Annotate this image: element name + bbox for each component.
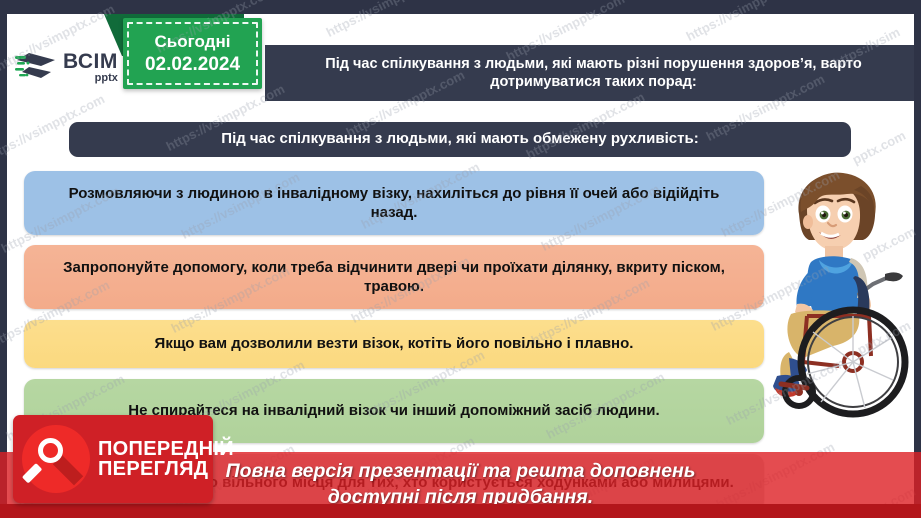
preview-badge-line1: ПОПЕРЕДНІЙ: [98, 439, 234, 459]
slide-title: Під час спілкування з людьми, які мають …: [265, 45, 914, 101]
vsimpptx-logo: ВСІМ pptx: [15, 44, 125, 90]
bottom-red-strip: [0, 504, 921, 518]
date-badge-date: 02.02.2024: [145, 54, 240, 76]
tip-item-2: Запропонуйте допомогу, коли треба відчин…: [24, 245, 764, 309]
preview-badge-text: ПОПЕРЕДНІЙ ПЕРЕГЛЯД: [98, 439, 234, 480]
logo-brand-text: ВСІМ: [63, 51, 118, 72]
preview-badge: ПОПЕРЕДНІЙ ПЕРЕГЛЯД: [13, 415, 213, 503]
logo-wordmark: ВСІМ pptx: [63, 51, 118, 84]
tip-item-1: Розмовляючи з людиною в інвалідному візк…: [24, 171, 764, 235]
slide-subtitle: Під час спілкування з людьми, які мають …: [69, 122, 851, 157]
preview-badge-line2: ПЕРЕГЛЯД: [98, 459, 234, 479]
tip-item-3: Якщо вам дозволили везти візок, котіть й…: [24, 320, 764, 368]
boy-in-wheelchair-illustration: [773, 166, 914, 432]
presentation-slide: ВСІМ pptx Сьогодні 02.02.2024 Під час сп…: [0, 0, 921, 518]
magnifier-icon: [22, 425, 90, 493]
graduation-cap-icon: [15, 47, 59, 87]
date-badge-today-label: Сьогодні: [155, 32, 231, 52]
logo-sub-text: pptx: [63, 73, 118, 84]
date-badge: Сьогодні 02.02.2024: [123, 18, 262, 89]
